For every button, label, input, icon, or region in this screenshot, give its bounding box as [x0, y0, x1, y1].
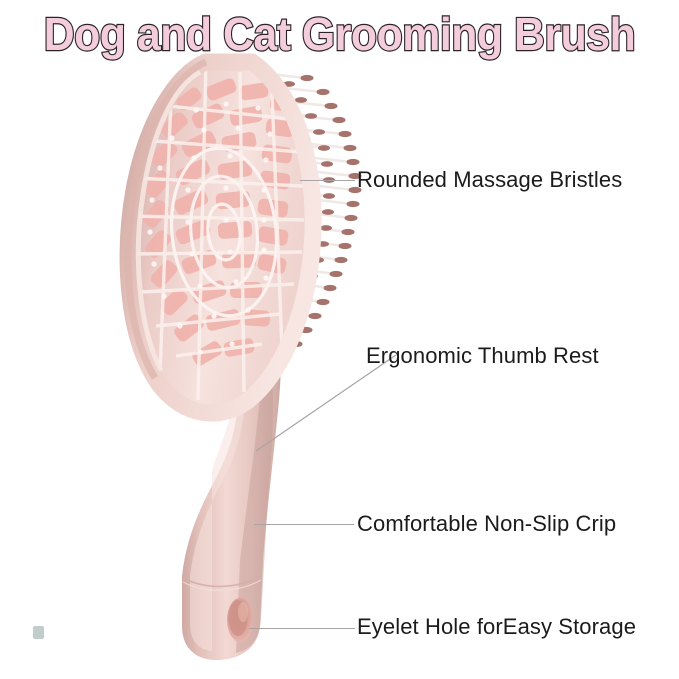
leader-line-thumb — [256, 355, 396, 451]
image-artifact-dot — [33, 626, 44, 639]
callout-label-eyelet: Eyelet Hole forEasy Storage — [357, 614, 636, 640]
lattice-pattern — [132, 62, 304, 400]
callout-label-thumb: Ergonomic Thumb Rest — [366, 343, 599, 369]
brush-handle — [182, 346, 281, 660]
brush-bristles — [196, 72, 362, 375]
callout-label-grip: Comfortable Non-Slip Crip — [357, 511, 616, 537]
leader-line-bristles — [300, 180, 355, 181]
page-title: Dog and Cat Grooming Brush — [24, 8, 655, 60]
infographic-canvas: Dog and Cat Grooming Brush — [0, 0, 679, 679]
product-illustration — [0, 0, 679, 679]
leader-line-eyelet — [249, 628, 355, 629]
callout-label-bristles: Rounded Massage Bristles — [357, 167, 622, 193]
leader-line-grip — [254, 524, 354, 525]
eyelet-hole — [227, 598, 253, 642]
brush-head — [128, 62, 313, 413]
